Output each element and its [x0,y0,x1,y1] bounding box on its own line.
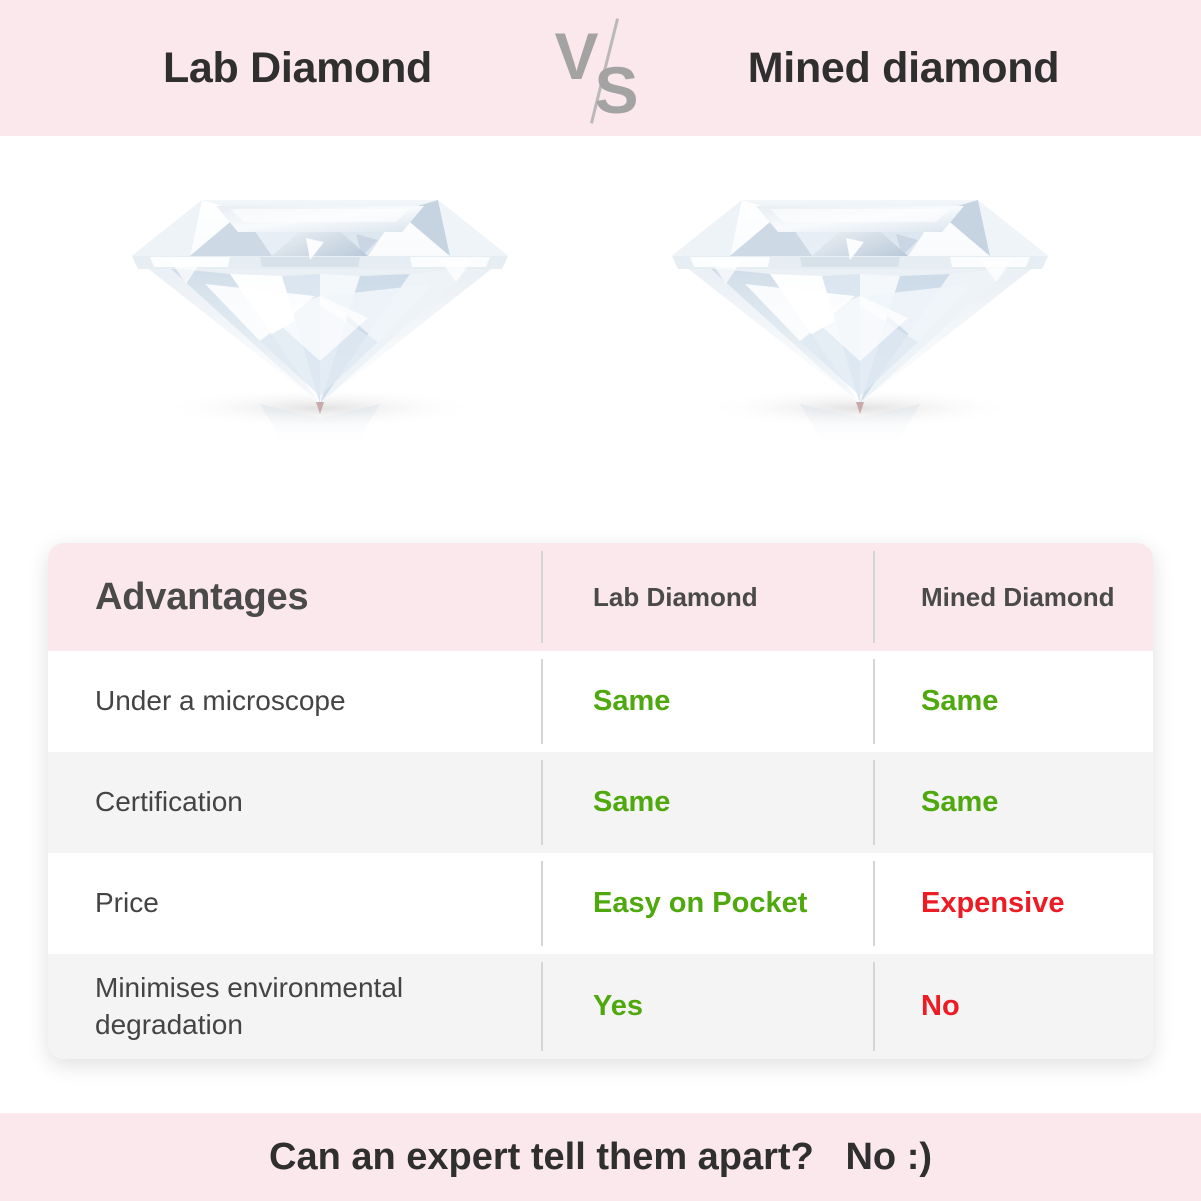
header-title-lab: Lab Diamond [63,44,533,93]
column-divider-2 [873,962,875,1051]
column-divider-2 [873,760,875,845]
diamond-illustration [650,156,1070,466]
lab-value: Easy on Pocket [593,887,807,920]
header-cell-lab: Lab Diamond [541,543,873,651]
table-row: Under a microscope Same Same [48,651,1153,752]
lab-value: Same [593,685,670,718]
mined-diamond-image [650,156,1070,466]
mined-value: Same [921,786,998,819]
footer-band: Can an expert tell them apart? No :) [0,1113,1201,1201]
feature-cell: Minimises environmental degradation [48,954,541,1059]
feature-cell: Price [48,853,541,954]
infographic-page: Lab Diamond V S Mined diamond [0,0,1201,1201]
vs-icon: V S [547,13,655,123]
lab-value: Same [593,786,670,819]
table-header-row: Advantages Lab Diamond Mined Diamond [48,543,1153,651]
feature-label: Minimises environmental degradation [95,970,541,1044]
vs-letter-s: S [595,57,639,123]
header-cell-mined: Mined Diamond [873,543,1153,651]
header-title-mined: Mined diamond [669,44,1139,93]
mined-column-label: Mined Diamond [921,582,1115,613]
mined-value-cell: Expensive [873,853,1153,954]
diamond-illustration [110,156,530,466]
mined-value-cell: No [873,954,1153,1059]
column-divider-1 [541,861,543,946]
lab-value: Yes [593,990,643,1023]
column-divider-1 [541,659,543,744]
feature-label: Price [95,885,159,922]
column-divider-2 [873,659,875,744]
mined-value-cell: Same [873,651,1153,752]
header-band: Lab Diamond V S Mined diamond [0,0,1201,136]
lab-value-cell: Same [541,651,873,752]
column-divider-1 [541,551,543,643]
vs-letter-v: V [555,23,599,89]
mined-value: Same [921,685,998,718]
comparison-table: Advantages Lab Diamond Mined Diamond Und… [48,543,1153,1059]
advantages-label: Advantages [95,576,308,619]
lab-value-cell: Easy on Pocket [541,853,873,954]
diamond-images-row [0,136,1201,536]
footer-question: Can an expert tell them apart? No :) [269,1136,932,1179]
column-divider-1 [541,760,543,845]
lab-diamond-image [110,156,530,466]
mined-value-cell: Same [873,752,1153,853]
mined-value: No [921,990,960,1023]
header-cell-advantages: Advantages [48,543,541,651]
lab-column-label: Lab Diamond [593,582,758,613]
feature-cell: Certification [48,752,541,853]
table-row: Certification Same Same [48,752,1153,853]
table-row: Minimises environmental degradation Yes … [48,954,1153,1059]
column-divider-1 [541,962,543,1051]
column-divider-2 [873,861,875,946]
column-divider-2 [873,551,875,643]
feature-label: Under a microscope [95,683,346,720]
feature-cell: Under a microscope [48,651,541,752]
mined-value: Expensive [921,887,1064,920]
feature-label: Certification [95,784,243,821]
comparison-card: Advantages Lab Diamond Mined Diamond Und… [48,543,1153,1059]
table-row: Price Easy on Pocket Expensive [48,853,1153,954]
lab-value-cell: Yes [541,954,873,1059]
lab-value-cell: Same [541,752,873,853]
